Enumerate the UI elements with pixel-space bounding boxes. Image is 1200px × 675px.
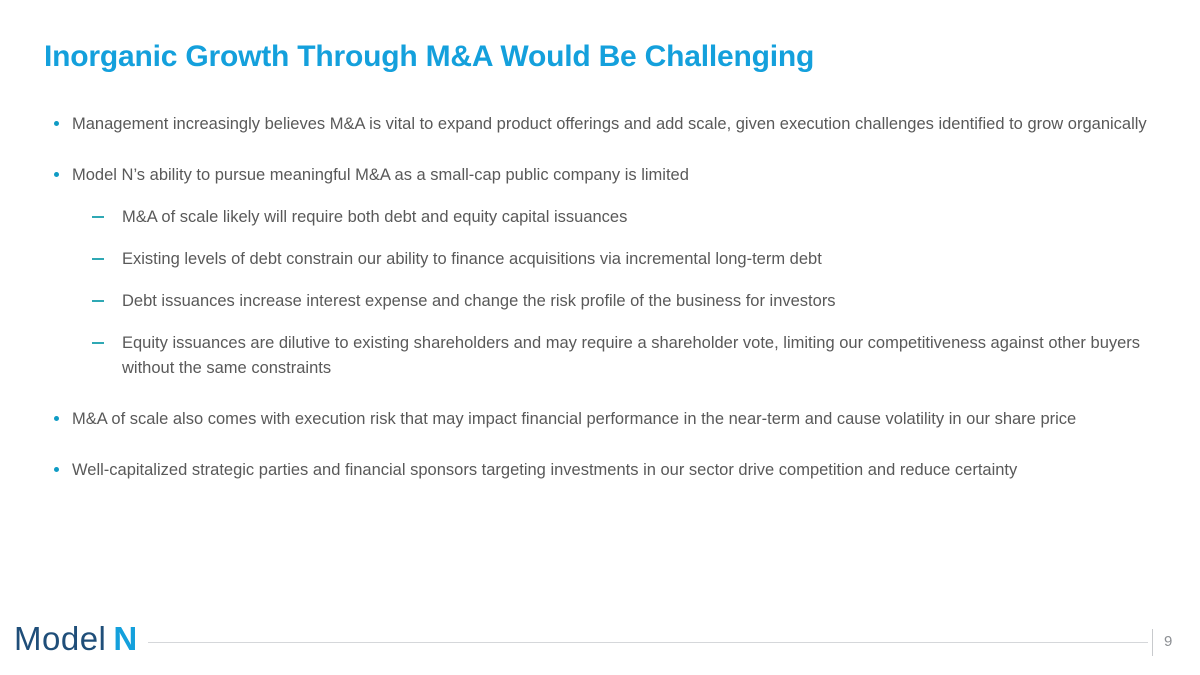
bullet-dot-icon xyxy=(54,121,59,126)
logo-letter-n: N xyxy=(113,620,137,657)
dash-icon xyxy=(92,342,104,344)
sub-bullet-item: Equity issuances are dilutive to existin… xyxy=(72,331,1160,381)
sub-bullet-list: M&A of scale likely will require both de… xyxy=(72,205,1160,381)
sub-bullet-text: Debt issuances increase interest expense… xyxy=(122,289,1160,314)
slide-footer: ModelN 9 xyxy=(0,613,1200,675)
bullet-dot-icon xyxy=(54,467,59,472)
logo-word-model: Model xyxy=(14,620,106,657)
bullet-text: Well-capitalized strategic parties and f… xyxy=(72,458,1160,483)
bullet-item: Model N’s ability to pursue meaningful M… xyxy=(50,163,1160,381)
bullet-item: Well-capitalized strategic parties and f… xyxy=(50,458,1160,483)
sub-bullet-item: M&A of scale likely will require both de… xyxy=(72,205,1160,230)
bullet-text: Model N’s ability to pursue meaningful M… xyxy=(72,163,1160,188)
sub-bullet-text: Existing levels of debt constrain our ab… xyxy=(122,247,1160,272)
sub-bullet-text: Equity issuances are dilutive to existin… xyxy=(122,331,1160,381)
sub-bullet-item: Debt issuances increase interest expense… xyxy=(72,289,1160,314)
presentation-slide: Inorganic Growth Through M&A Would Be Ch… xyxy=(0,0,1200,675)
bullet-text: Management increasingly believes M&A is … xyxy=(72,112,1160,137)
bullet-text: M&A of scale also comes with execution r… xyxy=(72,407,1160,432)
page-number: 9 xyxy=(1164,632,1192,652)
dash-icon xyxy=(92,216,104,218)
bullet-item: M&A of scale also comes with execution r… xyxy=(50,407,1160,432)
sub-bullet-item: Existing levels of debt constrain our ab… xyxy=(72,247,1160,272)
footer-divider xyxy=(148,642,1148,643)
bullet-item: Management increasingly believes M&A is … xyxy=(50,112,1160,137)
page-number-separator xyxy=(1152,629,1153,656)
bullet-dot-icon xyxy=(54,172,59,177)
dash-icon xyxy=(92,300,104,302)
brand-logo: ModelN xyxy=(14,619,137,659)
slide-body: Management increasingly believes M&A is … xyxy=(50,112,1160,507)
dash-icon xyxy=(92,258,104,260)
page-title: Inorganic Growth Through M&A Would Be Ch… xyxy=(44,38,1144,76)
sub-bullet-text: M&A of scale likely will require both de… xyxy=(122,205,1160,230)
bullet-dot-icon xyxy=(54,416,59,421)
